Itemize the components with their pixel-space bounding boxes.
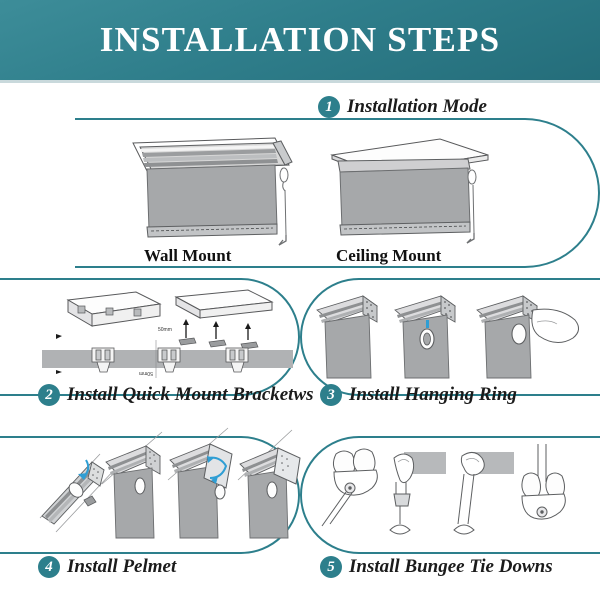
- step-3-badge: 3: [320, 384, 342, 406]
- page-title: INSTALLATION STEPS: [0, 0, 600, 80]
- wall-mount-illustration: [125, 135, 305, 245]
- pelmet-illustration: [34, 440, 302, 540]
- step-5-badge: 5: [320, 556, 342, 578]
- header-divider: [0, 80, 600, 83]
- step-4-heading: 4 Install Pelmet: [38, 556, 176, 578]
- step-2-badge: 2: [38, 384, 60, 406]
- dimension-label-bottom: 50mm: [139, 370, 153, 376]
- step-5-label: Install Bungee Tie Downs: [349, 556, 553, 578]
- step-3-heading: 3 Install Hanging Ring: [320, 384, 517, 406]
- step-2-heading: 2 Install Quick Mount Bracketws: [38, 384, 314, 406]
- ceiling-mount-illustration: [320, 135, 500, 245]
- caption-wall-mount: Wall Mount: [144, 246, 231, 266]
- header-banner: INSTALLATION STEPS: [0, 0, 600, 80]
- step-1-badge: 1: [318, 96, 340, 118]
- quick-mount-bracket-illustration: 50mm 50mm: [40, 282, 295, 380]
- hanging-ring-illustration: [315, 282, 585, 380]
- caption-ceiling-mount: Ceiling Mount: [336, 246, 441, 266]
- step-1-heading: 1 Installation Mode: [318, 96, 487, 118]
- step-3-label: Install Hanging Ring: [349, 384, 517, 406]
- bungee-tie-down-illustration: [322, 440, 574, 540]
- step-5-heading: 5 Install Bungee Tie Downs: [320, 556, 553, 578]
- installation-steps-poster: INSTALLATION STEPS 1 Installation Mode: [0, 0, 600, 600]
- dimension-label-top: 50mm: [158, 327, 172, 333]
- step-4-badge: 4: [38, 556, 60, 578]
- step-1-label: Installation Mode: [347, 96, 487, 118]
- step-2-label: Install Quick Mount Bracketws: [67, 384, 314, 406]
- step-4-label: Install Pelmet: [67, 556, 176, 578]
